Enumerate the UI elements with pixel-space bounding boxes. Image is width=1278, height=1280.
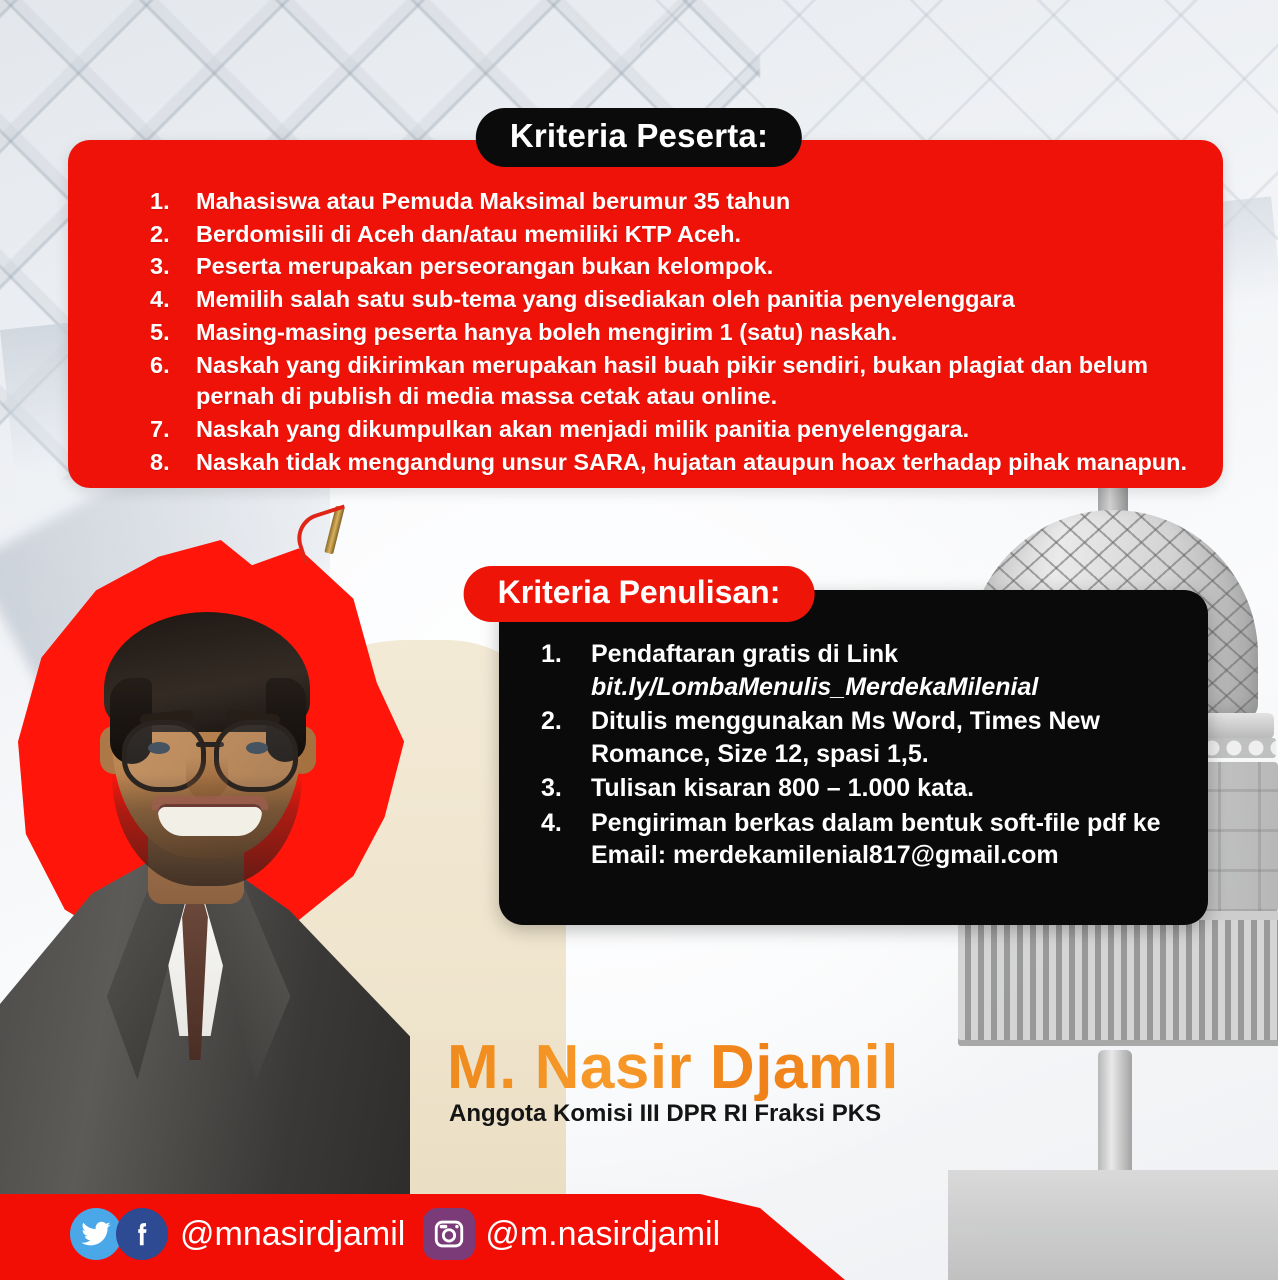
list-item: 4. Pengiriman berkas dalam bentuk soft-f…: [541, 807, 1186, 872]
twitter-bird-icon[interactable]: [70, 1208, 122, 1260]
portrait-smile: [158, 804, 262, 836]
list-item-number: 2.: [541, 705, 591, 738]
list-item-number: 5.: [150, 317, 196, 349]
list-item-number: 4.: [150, 284, 196, 316]
list-item: 6. Naskah yang dikirimkan merupakan hasi…: [150, 350, 1201, 413]
list-item-number: 1.: [541, 638, 591, 671]
portrait-photo: [0, 560, 440, 1280]
figure-role: Anggota Komisi III DPR RI Fraksi PKS: [449, 1100, 881, 1128]
instagram-camera-icon[interactable]: [423, 1208, 475, 1260]
list-item-text: Masing-masing peserta hanya boleh mengir…: [196, 317, 1201, 349]
list-item: 4. Memilih salah satu sub-tema yang dise…: [150, 284, 1201, 316]
list-item-number: 3.: [150, 251, 196, 283]
list-item-number: 7.: [150, 414, 196, 446]
portrait-hair: [104, 612, 310, 732]
list-item-text: Memilih salah satu sub-tema yang disedia…: [196, 284, 1201, 316]
list-item-text-main: Pendaftaran gratis di Link: [591, 640, 898, 668]
list-item-text: Naskah tidak mengandung unsur SARA, huja…: [196, 447, 1201, 479]
list-item-number: 1.: [150, 186, 196, 218]
list-item: 1. Mahasiswa atau Pemuda Maksimal berumu…: [150, 186, 1201, 218]
list-item: 1. Pendaftaran gratis di Link bit.ly/Lom…: [541, 638, 1186, 703]
dome-base: [948, 1170, 1278, 1280]
page-title: M. Nasir Djamil: [447, 1032, 899, 1103]
facebook-f-icon[interactable]: [116, 1208, 168, 1260]
poster-canvas: 1. Mahasiswa atau Pemuda Maksimal berumu…: [0, 0, 1278, 1280]
participant-criteria-panel: 1. Mahasiswa atau Pemuda Maksimal berumu…: [68, 140, 1223, 488]
list-item-number: 4.: [541, 807, 591, 840]
list-item: 7. Naskah yang dikumpulkan akan menjadi …: [150, 414, 1201, 446]
list-item: 3. Tulisan kisaran 800 – 1.000 kata.: [541, 772, 1186, 805]
list-item: 2. Ditulis menggunakan Ms Word, Times Ne…: [541, 705, 1186, 770]
list-item-number: 6.: [150, 350, 196, 382]
writing-criteria-panel: 1. Pendaftaran gratis di Link bit.ly/Lom…: [499, 590, 1208, 925]
list-item: 2. Berdomisili di Aceh dan/atau memiliki…: [150, 219, 1201, 251]
dome-balcony-railing: [958, 920, 1278, 1040]
list-item-text: Peserta merupakan perseorangan bukan kel…: [196, 251, 1201, 283]
list-item: 8. Naskah tidak mengandung unsur SARA, h…: [150, 447, 1201, 479]
social-handle-primary[interactable]: @mnasirdjamil: [180, 1215, 405, 1254]
list-item-text: Mahasiswa atau Pemuda Maksimal berumur 3…: [196, 186, 1201, 218]
registration-link[interactable]: bit.ly/LombaMenulis_MerdekaMilenial: [591, 671, 1186, 704]
list-item-number: 8.: [150, 447, 196, 479]
list-item-text: Tulisan kisaran 800 – 1.000 kata.: [591, 772, 1186, 805]
list-item-number: 2.: [150, 219, 196, 251]
list-item: 5. Masing-masing peserta hanya boleh men…: [150, 317, 1201, 349]
participant-criteria-list: 1. Mahasiswa atau Pemuda Maksimal berumu…: [150, 186, 1201, 479]
list-item: 3. Peserta merupakan perseorangan bukan …: [150, 251, 1201, 283]
list-item-text: Pendaftaran gratis di Link bit.ly/LombaM…: [591, 638, 1186, 703]
list-item-text: Ditulis menggunakan Ms Word, Times New R…: [591, 705, 1186, 770]
social-handle-instagram[interactable]: @m.nasirdjamil: [485, 1215, 720, 1254]
portrait-nose: [186, 756, 228, 800]
list-item-text: Naskah yang dikumpulkan akan menjadi mil…: [196, 414, 1201, 446]
participant-criteria-title: Kriteria Peserta:: [476, 108, 802, 167]
list-item-number: 3.: [541, 772, 591, 805]
list-item-text: Pengiriman berkas dalam bentuk soft-file…: [591, 807, 1186, 872]
list-item-text: Naskah yang dikirimkan merupakan hasil b…: [196, 350, 1201, 413]
list-item-text: Berdomisili di Aceh dan/atau memiliki KT…: [196, 219, 1201, 251]
social-handles: @mnasirdjamil @m.nasirdjamil: [70, 1204, 720, 1264]
writing-criteria-list: 1. Pendaftaran gratis di Link bit.ly/Lom…: [541, 638, 1186, 874]
writing-criteria-title: Kriteria Penulisan:: [464, 566, 815, 622]
